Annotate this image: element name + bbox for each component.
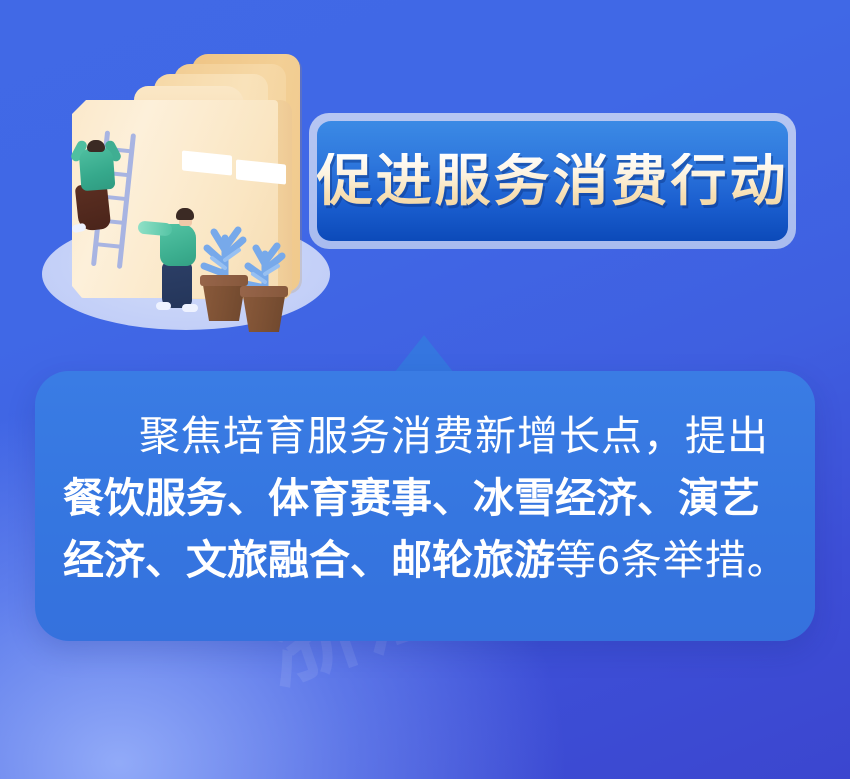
- plant-pot-rim-left: [200, 275, 248, 286]
- summary-line-3-thin: 等6条举措。: [555, 537, 789, 583]
- summary-card-text: 聚焦培育服务消费新增长点，提出 餐饮服务、体育赛事、冰雪经济、演艺 经济、文旅融…: [63, 405, 787, 591]
- card-pointer: [394, 335, 454, 373]
- infographic-page: 浙江发布: [0, 0, 850, 779]
- worker-head: [176, 208, 194, 220]
- page-title: 促进服务消费行动: [317, 153, 789, 209]
- climber-body: [79, 147, 116, 191]
- climber-head: [87, 140, 105, 152]
- title-banner: 促进服务消费行动: [309, 113, 796, 249]
- worker-foot-left: [156, 302, 171, 310]
- summary-line-1: 聚焦培育服务消费新增长点，提出: [63, 405, 787, 467]
- summary-line-3-bold: 经济、文旅融合、邮轮旅游: [63, 537, 555, 583]
- title-banner-panel: 促进服务消费行动: [317, 121, 788, 241]
- worker-foot-right: [182, 304, 198, 312]
- summary-line-2: 餐饮服务、体育赛事、冰雪经济、演艺: [63, 467, 787, 529]
- summary-line-3: 经济、文旅融合、邮轮旅游等6条举措。: [63, 529, 787, 591]
- plant-pot-rim-right: [240, 286, 288, 297]
- summary-card: 聚焦培育服务消费新增长点，提出 餐饮服务、体育赛事、冰雪经济、演艺 经济、文旅融…: [35, 371, 815, 641]
- folder-illustration: [34, 36, 334, 326]
